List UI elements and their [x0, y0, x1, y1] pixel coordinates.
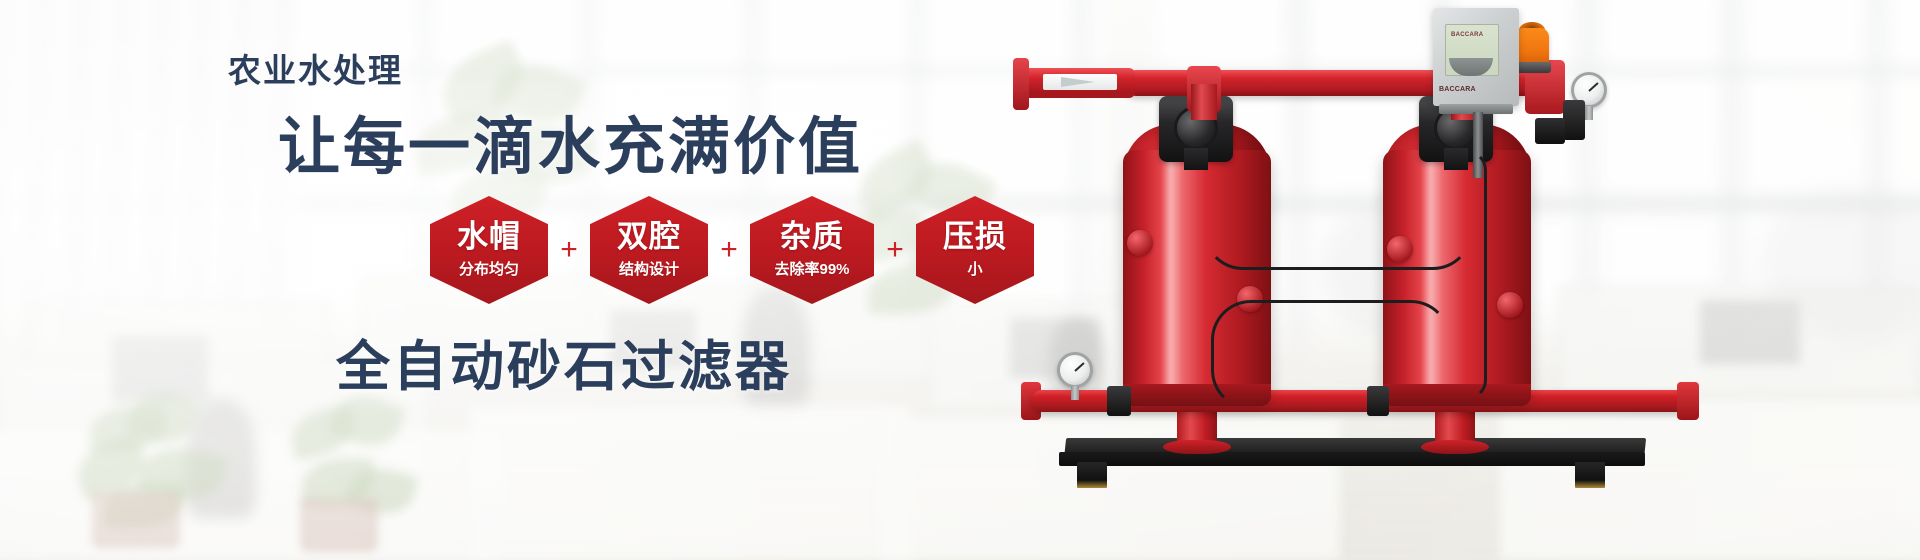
promo-banner: 农业水处理 让每一滴水充满价值 水帽 分布均匀 + 双腔 结构设计 + 杂质 去…	[0, 0, 1920, 560]
banner-subline: 全自动砂石过滤器	[336, 322, 792, 401]
feature-badge-title: 杂质	[780, 221, 844, 254]
product-inlet-pipe	[1019, 68, 1135, 98]
controller-brand-logo: BACCARA	[1439, 86, 1476, 93]
feature-badge-title: 双腔	[617, 221, 681, 254]
product-riser-pipe	[1191, 84, 1217, 120]
badge-plus-icon: +	[548, 235, 590, 265]
product-pipe-clamp	[1563, 100, 1585, 140]
product-base-foot	[1077, 462, 1107, 488]
product-base-frame-front	[1059, 452, 1645, 466]
product-tank-port	[1127, 230, 1153, 256]
feature-badge-subtitle: 去除率99%	[774, 258, 849, 279]
product-pipe-clamp	[1535, 118, 1565, 144]
badge-plus-icon: +	[874, 235, 916, 265]
feature-badge-subtitle: 小	[967, 258, 982, 279]
feature-badge-title: 压损	[943, 221, 1007, 254]
flow-direction-arrow-icon	[1043, 74, 1117, 90]
product-sand-filter-image: BACCARA BACCARA	[1015, 0, 1920, 560]
banner-eyebrow: 农业水处理	[228, 44, 403, 92]
feature-badge-subtitle: 分布均匀	[459, 258, 519, 279]
product-inlet-flange	[1013, 58, 1029, 110]
feature-badge-row: 水帽 分布均匀 + 双腔 结构设计 + 杂质 去除率99% + 压损 小	[430, 196, 1034, 304]
product-base-foot	[1575, 462, 1605, 488]
control-tubing	[1447, 150, 1487, 400]
control-tubing	[1203, 120, 1473, 270]
product-manifold-end-cap	[1677, 382, 1699, 420]
pressure-gauge-stem	[1071, 386, 1079, 400]
badge-plus-icon: +	[708, 235, 750, 265]
feature-badge-title: 水帽	[457, 221, 521, 254]
control-tubing	[1211, 300, 1451, 410]
banner-headline: 让每一滴水充满价值	[278, 96, 863, 186]
product-pipe-clamp	[1107, 386, 1131, 416]
pressure-gauge-stem	[1585, 106, 1593, 120]
product-tank-leg-flange	[1421, 440, 1489, 454]
feature-badge-shuangqiang: 双腔 结构设计	[590, 196, 708, 304]
feature-badge-subtitle: 结构设计	[619, 258, 679, 279]
product-tank-leg-flange	[1163, 440, 1231, 454]
controller-display-brand-label: BACCARA	[1451, 32, 1483, 38]
feature-badge-shuimao: 水帽 分布均匀	[430, 196, 548, 304]
product-tank-port	[1497, 292, 1523, 318]
feature-badge-zazhi: 杂质 去除率99%	[750, 196, 874, 304]
product-tank-highlight	[1161, 155, 1181, 395]
pressure-gauge-bottom	[1057, 352, 1093, 388]
